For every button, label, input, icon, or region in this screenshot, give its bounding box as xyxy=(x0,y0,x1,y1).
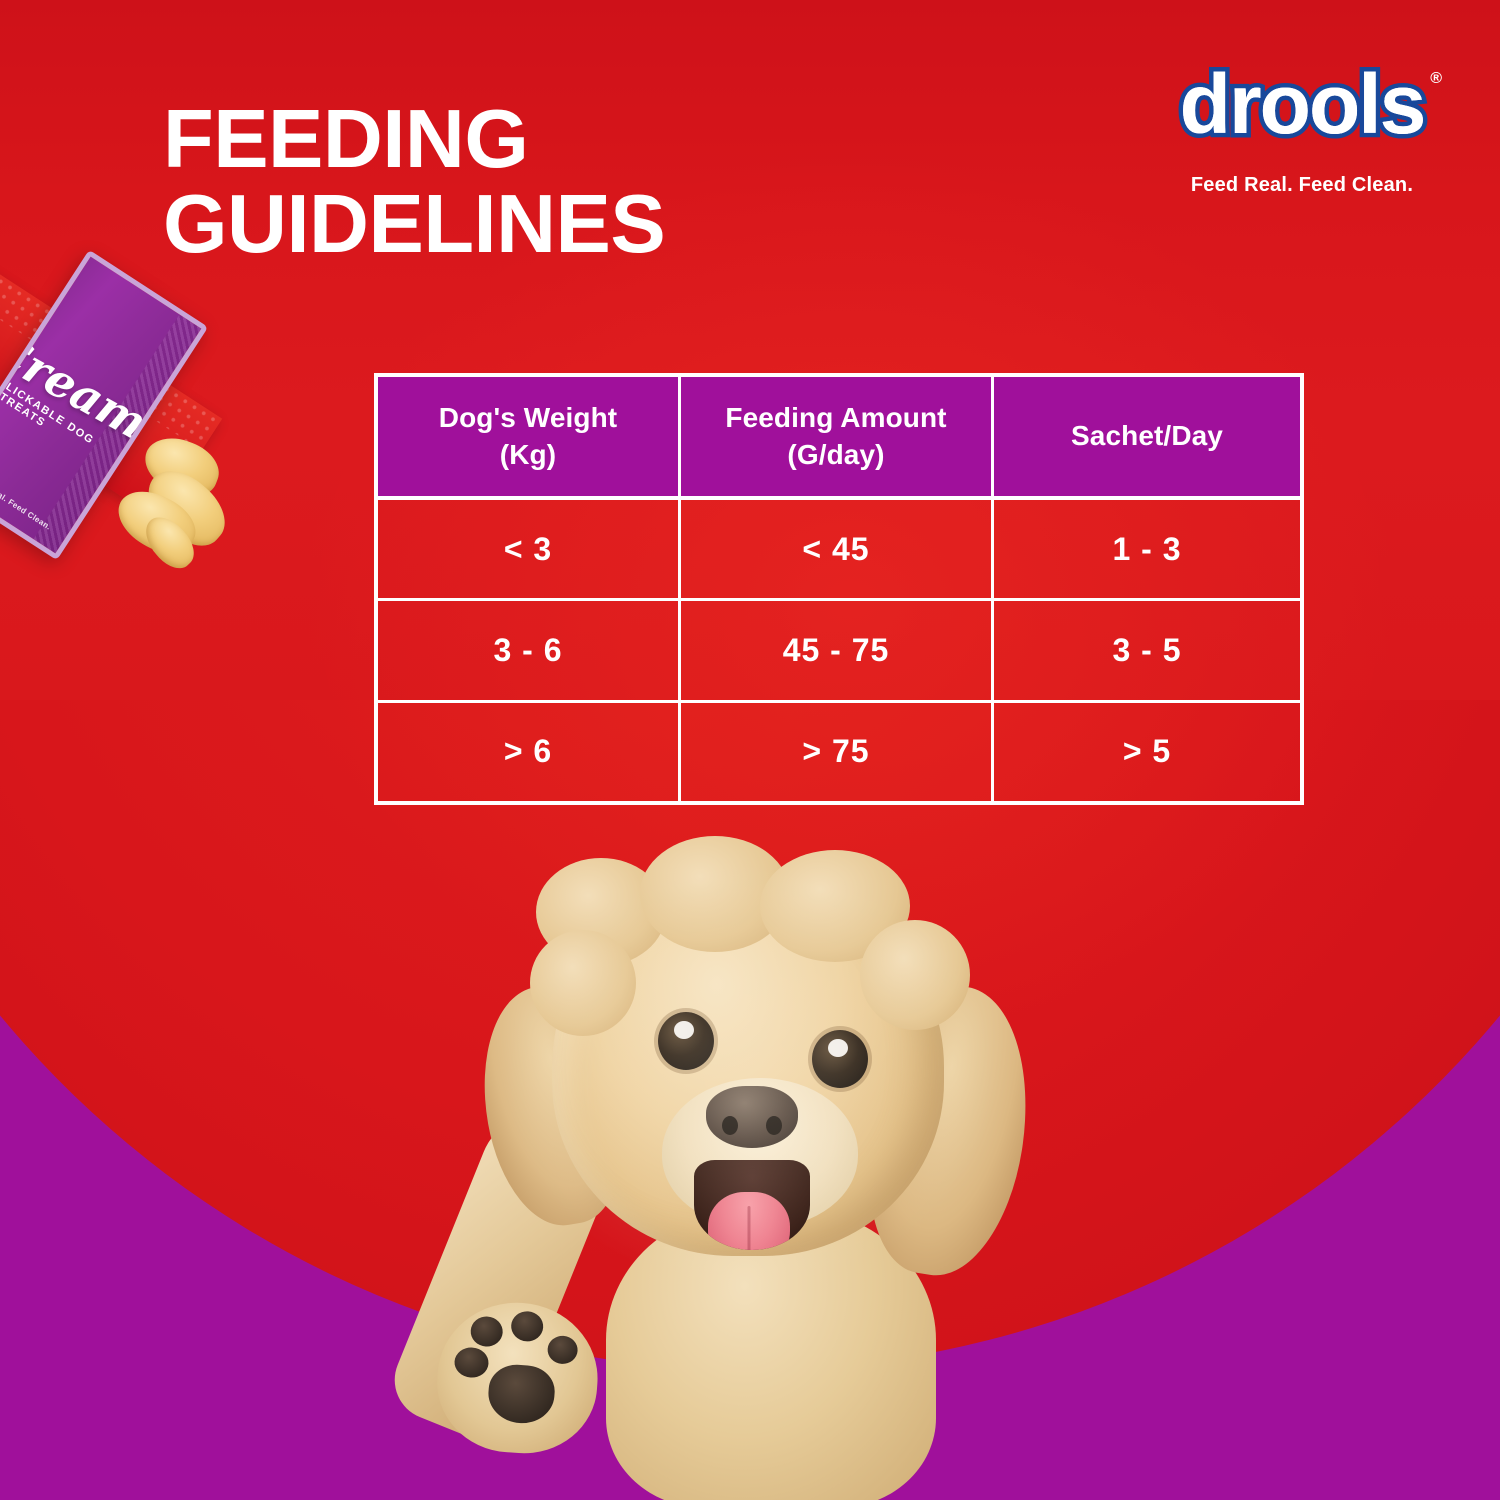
cell-weight: > 6 xyxy=(378,703,681,801)
paw-pad-toe xyxy=(510,1310,544,1342)
table-row: > 6 > 75 > 5 xyxy=(378,703,1300,801)
table-body: < 3 < 45 1 - 3 3 - 6 45 - 75 3 - 5 > 6 >… xyxy=(378,500,1300,801)
dog-eye-left xyxy=(658,1012,714,1070)
feeding-guidelines-table: Dog's Weight (Kg) Feeding Amount (G/day)… xyxy=(374,373,1304,805)
cell-sachets: 1 - 3 xyxy=(994,500,1300,598)
paw-pad-toe xyxy=(547,1335,579,1365)
dog-paw xyxy=(433,1297,603,1458)
dog-eye-right xyxy=(812,1030,868,1088)
dog-photo xyxy=(200,860,1100,1500)
dog-fur-tuft xyxy=(860,920,970,1030)
table-header-row: Dog's Weight (Kg) Feeding Amount (G/day)… xyxy=(378,377,1300,500)
dog-nose xyxy=(706,1086,798,1148)
table-row: 3 - 6 45 - 75 3 - 5 xyxy=(378,601,1300,702)
paw-pad-toe xyxy=(470,1315,504,1347)
cell-sachets: > 5 xyxy=(994,703,1300,801)
cell-amount: > 75 xyxy=(681,703,994,801)
product-pack-artwork: ER Creamy LICKABLE DOG TREATS Feed Real.… xyxy=(0,180,400,600)
column-header-dog-weight: Dog's Weight (Kg) xyxy=(378,377,681,496)
cell-amount: 45 - 75 xyxy=(681,601,994,699)
dog-fur-tuft xyxy=(530,930,636,1036)
feeding-guidelines-poster: FEEDING GUIDELINES drools drools ® Feed … xyxy=(0,0,1500,1500)
table-row: < 3 < 45 1 - 3 xyxy=(378,500,1300,601)
cell-sachets: 3 - 5 xyxy=(994,601,1300,699)
dog-mouth xyxy=(694,1160,810,1250)
dog-tongue xyxy=(708,1192,790,1250)
cell-weight: < 3 xyxy=(378,500,681,598)
column-header-feeding-amount: Feeding Amount (G/day) xyxy=(681,377,994,496)
logo-wordmark: drools xyxy=(1168,62,1436,146)
registered-trademark-icon: ® xyxy=(1430,70,1442,88)
cell-weight: 3 - 6 xyxy=(378,601,681,699)
paw-pad-main xyxy=(486,1363,556,1425)
brand-tagline: Feed Real. Feed Clean. xyxy=(1168,174,1436,197)
paw-pad-toe xyxy=(454,1346,490,1378)
brand-logo: drools drools ® Feed Real. Feed Clean. xyxy=(1168,62,1436,207)
column-header-sachet-per-day: Sachet/Day xyxy=(994,377,1300,496)
cell-amount: < 45 xyxy=(681,500,994,598)
